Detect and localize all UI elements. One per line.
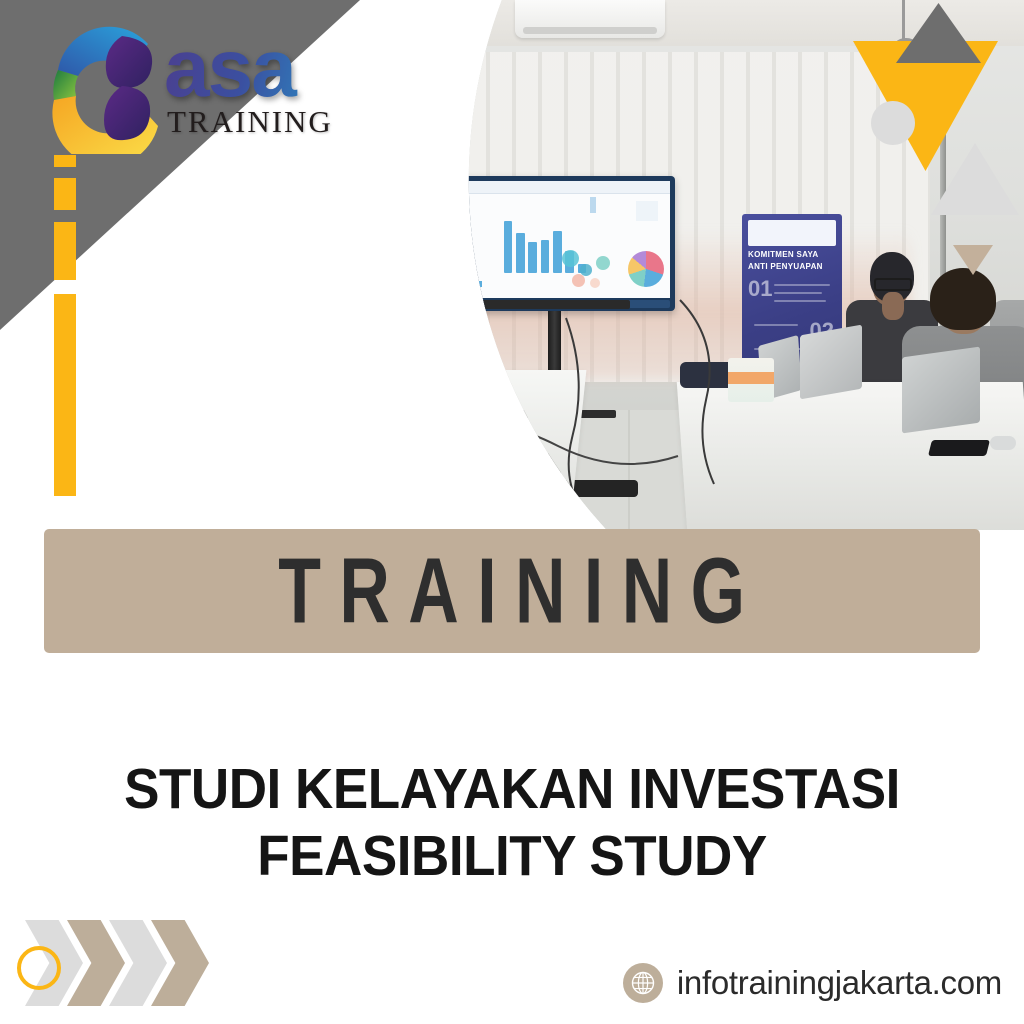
tissue-box-left-band: [434, 404, 482, 413]
brand-logo[interactable]: asa TRAINING: [36, 14, 336, 164]
mouse-on-table: [990, 436, 1016, 450]
screen-bubble-chart: [558, 245, 624, 291]
yellow-dash-2: [54, 178, 76, 210]
presenter-badge: [382, 150, 397, 169]
screen-toolbar: [440, 181, 670, 194]
tissue-box-right-band: [728, 372, 774, 384]
bubble-0: [562, 250, 579, 267]
screen-misc-blocks-3: [464, 281, 482, 287]
globe-icon: [623, 963, 663, 1003]
presenter-trousers: [358, 228, 416, 268]
yellow-dash-4: [54, 294, 76, 496]
grey-circle-icon: [871, 101, 915, 145]
poster-header-panel: [748, 220, 836, 246]
poster-line-c: [774, 300, 826, 302]
bar-3: [528, 242, 537, 273]
participant-1-glasses-icon: [874, 278, 912, 291]
tv-stand-base: [480, 480, 638, 497]
page-title: STUDI KELAYAKAN INVESTASI FEASIBILITY ST…: [0, 756, 1024, 889]
chevron-arrows-icon: [25, 920, 225, 1010]
logo-word-training: TRAINING: [167, 104, 369, 140]
screen-misc-blocks: [590, 197, 596, 213]
presenter-head: [366, 66, 406, 112]
bubble-3: [572, 274, 585, 287]
presenter-watch: [346, 222, 362, 234]
presenter-lanyard: [377, 108, 391, 152]
phone-on-table: [928, 440, 990, 456]
poster-canvas: KOMITMEN SAYA ANTI PENYUAPAN 01 02: [0, 0, 1024, 1024]
circular-swoosh-logo-icon: [36, 14, 178, 154]
pie-chart: [628, 251, 664, 287]
logo-word-asa: asa: [164, 36, 369, 102]
logo-wordmark: asa TRAINING: [164, 36, 369, 140]
presenter-arm: [344, 130, 372, 226]
tv-stand-arm: [480, 300, 630, 309]
training-banner: TRAINING: [44, 529, 980, 653]
website-url: infotrainingjakarta.com: [677, 964, 1002, 1002]
poster-line-a: [774, 284, 830, 286]
ceiling-hook-line: [902, 0, 905, 40]
laptop-left: [382, 347, 420, 414]
poster-title-line2: ANTI PENYUAPAN: [748, 262, 823, 272]
yellow-dash-3: [54, 222, 76, 280]
yellow-ring-icon: [17, 946, 61, 990]
headline-line-2: FEASIBILITY STUDY: [36, 823, 988, 890]
bar-2: [516, 233, 525, 273]
website-footer[interactable]: infotrainingjakarta.com: [623, 963, 1002, 1003]
poster-step-1: 01: [748, 276, 772, 302]
presentation-screen: [435, 176, 675, 311]
screen-misc-blocks-2: [636, 201, 658, 221]
bar-4: [541, 240, 550, 273]
tissue-box-left: [434, 380, 482, 418]
screen-content: [440, 181, 670, 298]
participant-1-hand: [882, 292, 904, 320]
screen-pie-chart: [628, 251, 664, 287]
bubble-2: [596, 256, 610, 270]
air-conditioner-icon: [515, 0, 665, 38]
participant-2-head: [930, 268, 996, 330]
presenter-face: [390, 80, 412, 110]
training-banner-label: TRAINING: [260, 538, 764, 644]
bar-1: [504, 221, 513, 273]
poster-line-d: [754, 324, 798, 326]
screen-sidebar: [440, 193, 455, 298]
poster-title-line1: KOMITMEN SAYA: [748, 250, 818, 260]
poster-line-b: [774, 292, 822, 294]
headline-line-1: STUDI KELAYAKAN INVESTASI: [36, 756, 988, 823]
laptop-a: [800, 325, 862, 400]
bubble-4: [590, 278, 600, 288]
table-left: [350, 370, 587, 530]
laptop-c: [902, 347, 980, 434]
